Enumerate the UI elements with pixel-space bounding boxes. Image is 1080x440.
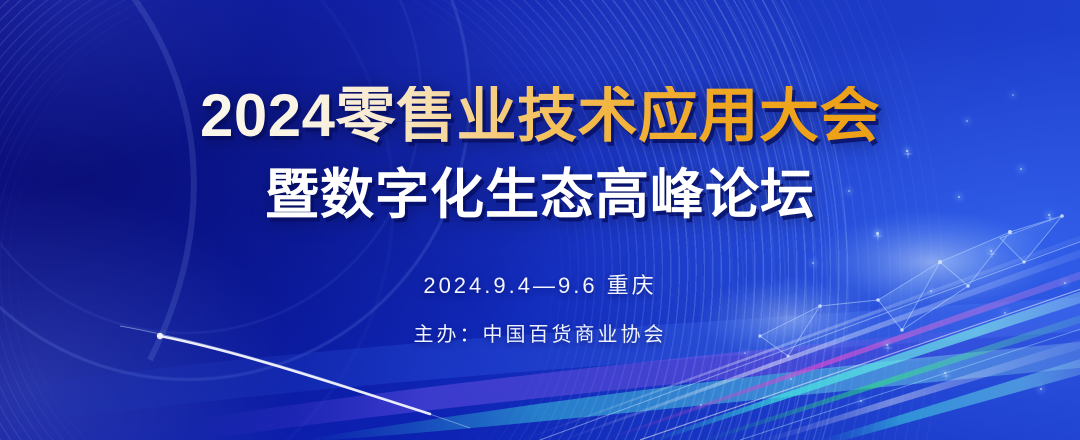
banner-text-content: 2024零售业技术应用大会 暨数字化生态高峰论坛 2024.9.4—9.6 重庆…	[0, 0, 1080, 440]
page-title: 2024零售业技术应用大会	[200, 86, 880, 146]
event-host: 主办：中国百货商业协会	[414, 318, 667, 347]
page-subtitle: 暨数字化生态高峰论坛	[265, 168, 815, 222]
conference-banner: 2024零售业技术应用大会 暨数字化生态高峰论坛 2024.9.4—9.6 重庆…	[0, 0, 1080, 440]
event-date-location: 2024.9.4—9.6 重庆	[423, 268, 656, 300]
